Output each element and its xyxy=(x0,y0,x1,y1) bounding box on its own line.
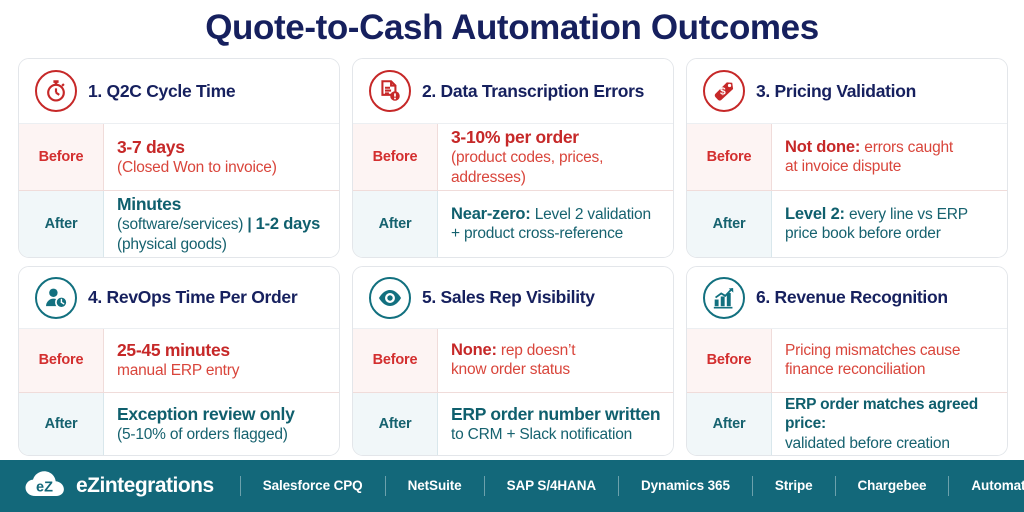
before-detail-3: finance reconciliation xyxy=(785,360,997,380)
after-label: After xyxy=(19,393,103,456)
after-row: After Minutes (software/services) | 1-2 … xyxy=(19,190,339,257)
after-label: After xyxy=(353,393,437,456)
after-detail: (software/services) xyxy=(117,216,243,233)
before-detail: errors caught xyxy=(860,139,953,156)
before-value: 25-45 minutes manual ERP entry xyxy=(103,329,339,392)
before-label: Before xyxy=(353,124,437,190)
before-line-1: Not done: errors caught xyxy=(785,138,997,158)
after-row: After ERP order number written to CRM + … xyxy=(353,392,673,456)
card-title: 1. Q2C Cycle Time xyxy=(88,81,235,102)
outcome-card-3: $ 3. Pricing Validation Before Not done:… xyxy=(686,58,1008,258)
after-label: After xyxy=(353,191,437,257)
integration-chip-automation-hub[interactable]: Automation Hub xyxy=(948,476,1024,496)
after-row: After Exception review only (5-10% of or… xyxy=(19,392,339,456)
svg-text:eZ: eZ xyxy=(36,479,53,495)
integration-chip-dynamics-365[interactable]: Dynamics 365 xyxy=(618,476,752,496)
after-value: ERP order number written to CRM + Slack … xyxy=(437,393,673,456)
card-header: 4. RevOps Time Per Order xyxy=(19,267,339,329)
after-lead: ERP order number written xyxy=(451,404,663,425)
before-label: Before xyxy=(19,329,103,392)
before-value: Not done: errors caught at invoice dispu… xyxy=(771,124,1007,190)
before-value: None: rep doesn’t know order status xyxy=(437,329,673,392)
after-row: After Near-zero: Level 2 validation + pr… xyxy=(353,190,673,257)
before-label: Before xyxy=(19,124,103,190)
before-row: Before 3-7 days (Closed Won to invoice) xyxy=(19,124,339,190)
after-detail: Level 2 validation xyxy=(531,206,651,223)
outcomes-grid: 1. Q2C Cycle Time Before 3-7 days (Close… xyxy=(18,58,1008,456)
after-label: After xyxy=(687,191,771,257)
after-value: ERP order matches agreed price: validate… xyxy=(771,393,1007,456)
after-value: Level 2: every line vs ERP price book be… xyxy=(771,191,1007,257)
footer-bar: eZ eZintegrations Salesforce CPQ NetSuit… xyxy=(0,460,1024,512)
after-value: Minutes (software/services) | 1-2 days (… xyxy=(103,191,339,257)
after-row: After ERP order matches agreed price: va… xyxy=(687,392,1007,456)
growth-chart-icon xyxy=(703,277,745,319)
before-lead: 25-45 minutes xyxy=(117,340,329,361)
after-detail-3: (physical goods) xyxy=(117,235,329,255)
stopwatch-icon xyxy=(35,70,77,112)
before-row: Before 3-10% per order (product codes, p… xyxy=(353,124,673,190)
card-header: $ 3. Pricing Validation xyxy=(687,59,1007,124)
infographic-page: Quote-to-Cash Automation Outcomes 1. Q2C… xyxy=(0,0,1024,512)
after-row: After Level 2: every line vs ERP price b… xyxy=(687,190,1007,257)
after-detail-3: + product cross-reference xyxy=(451,224,663,244)
card-title: 5. Sales Rep Visibility xyxy=(422,287,595,308)
brand-name: eZintegrations xyxy=(76,474,214,498)
before-label: Before xyxy=(687,329,771,392)
document-alert-icon xyxy=(369,70,411,112)
before-detail: manual ERP entry xyxy=(117,361,329,381)
before-row: Before None: rep doesn’t know order stat… xyxy=(353,329,673,392)
outcome-card-5: 5. Sales Rep Visibility Before None: rep… xyxy=(352,266,674,456)
before-detail-3: know order status xyxy=(451,360,663,380)
after-lead: Exception review only xyxy=(117,404,329,425)
before-lead: 3-10% per order xyxy=(451,127,663,148)
after-detail: to CRM + Slack notification xyxy=(451,425,663,445)
card-header: 6. Revenue Recognition xyxy=(687,267,1007,329)
after-line-1: Level 2: every line vs ERP xyxy=(785,205,997,225)
outcome-card-4: 4. RevOps Time Per Order Before 25-45 mi… xyxy=(18,266,340,456)
card-title: 4. RevOps Time Per Order xyxy=(88,287,297,308)
before-detail-3: at invoice dispute xyxy=(785,157,997,177)
before-row: Before Pricing mismatches cause finance … xyxy=(687,329,1007,392)
card-title: 3. Pricing Validation xyxy=(756,81,916,102)
integration-chip-salesforce-cpq[interactable]: Salesforce CPQ xyxy=(240,476,385,496)
before-detail: (Closed Won to invoice) xyxy=(117,158,329,178)
price-tag-dollar-icon: $ xyxy=(703,70,745,112)
after-separator: | xyxy=(247,216,251,233)
card-header: 2. Data Transcription Errors xyxy=(353,59,673,124)
before-value: 3-10% per order (product codes, prices, … xyxy=(437,124,673,190)
before-row: Before 25-45 minutes manual ERP entry xyxy=(19,329,339,392)
before-detail: Pricing mismatches cause xyxy=(785,341,997,361)
after-lead: Minutes xyxy=(117,194,329,215)
integration-chip-sap-s4hana[interactable]: SAP S/4HANA xyxy=(484,476,618,496)
before-detail: (product codes, prices, addresses) xyxy=(451,148,663,187)
after-lead: Near-zero: xyxy=(451,205,531,223)
svg-text:$: $ xyxy=(720,87,726,98)
after-lead: ERP order matches agreed price: xyxy=(785,395,997,434)
before-label: Before xyxy=(353,329,437,392)
integration-chip-list: Salesforce CPQ NetSuite SAP S/4HANA Dyna… xyxy=(240,476,1024,496)
after-detail: validated before creation xyxy=(785,434,997,454)
card-header: 1. Q2C Cycle Time xyxy=(19,59,339,124)
integration-chip-stripe[interactable]: Stripe xyxy=(752,476,835,496)
eye-icon xyxy=(369,277,411,319)
before-detail: rep doesn’t xyxy=(497,342,576,359)
after-detail-2: 1-2 days xyxy=(256,215,320,233)
after-value: Exception review only (5-10% of orders f… xyxy=(103,393,339,456)
before-value: 3-7 days (Closed Won to invoice) xyxy=(103,124,339,190)
before-row: Before Not done: errors caught at invoic… xyxy=(687,124,1007,190)
after-detail: (5-10% of orders flagged) xyxy=(117,425,329,445)
before-line-1: None: rep doesn’t xyxy=(451,341,663,361)
user-clock-icon xyxy=(35,277,77,319)
after-line-1: Near-zero: Level 2 validation xyxy=(451,205,663,225)
card-title: 2. Data Transcription Errors xyxy=(422,81,644,102)
page-title: Quote-to-Cash Automation Outcomes xyxy=(0,6,1024,50)
integration-chip-netsuite[interactable]: NetSuite xyxy=(385,476,484,496)
outcome-card-6: 6. Revenue Recognition Before Pricing mi… xyxy=(686,266,1008,456)
integration-chip-chargebee[interactable]: Chargebee xyxy=(835,476,949,496)
brand[interactable]: eZ eZintegrations xyxy=(24,469,214,504)
before-value: Pricing mismatches cause finance reconci… xyxy=(771,329,1007,392)
after-detail-3: price book before order xyxy=(785,224,997,244)
outcome-card-1: 1. Q2C Cycle Time Before 3-7 days (Close… xyxy=(18,58,340,258)
before-label: Before xyxy=(687,124,771,190)
card-header: 5. Sales Rep Visibility xyxy=(353,267,673,329)
after-label: After xyxy=(687,393,771,456)
before-lead: Not done: xyxy=(785,138,860,156)
after-detail: every line vs ERP xyxy=(845,206,968,223)
after-label: After xyxy=(19,191,103,257)
after-value: Near-zero: Level 2 validation + product … xyxy=(437,191,673,257)
card-title: 6. Revenue Recognition xyxy=(756,287,948,308)
ez-cloud-logo-icon: eZ xyxy=(24,469,66,504)
before-lead: None: xyxy=(451,341,497,359)
after-detail-combo: (software/services) | 1-2 days xyxy=(117,215,329,235)
after-lead: Level 2: xyxy=(785,205,845,223)
outcome-card-2: 2. Data Transcription Errors Before 3-10… xyxy=(352,58,674,258)
before-lead: 3-7 days xyxy=(117,137,329,158)
